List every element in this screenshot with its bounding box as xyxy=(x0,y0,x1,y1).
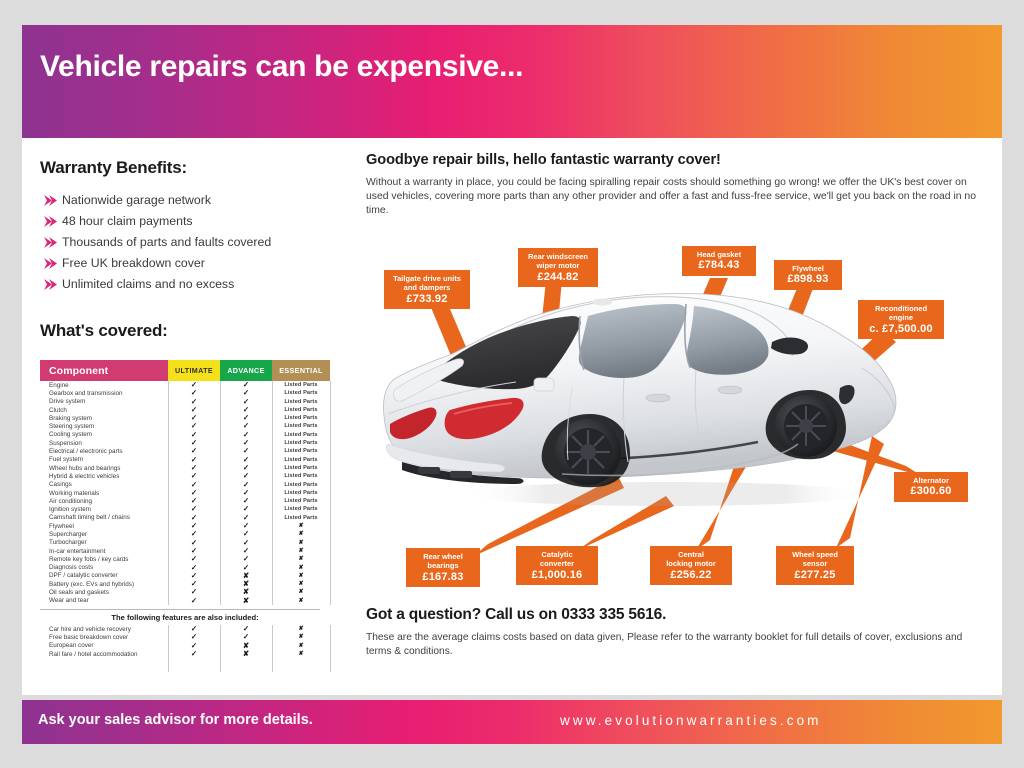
cell-text: Listed Parts xyxy=(272,514,330,522)
benefit-item: Thousands of parts and faults covered xyxy=(40,232,360,253)
cell-text: Listed Parts xyxy=(272,414,330,422)
chevron-right-icon xyxy=(40,237,62,248)
cell-text: Listed Parts xyxy=(272,489,330,497)
callout-label: Head gasket xyxy=(688,250,750,259)
table-row: Gearbox and transmission✓✓Listed Parts xyxy=(40,389,330,397)
cross-icon: ✘ xyxy=(272,633,330,641)
cross-icon: ✘ xyxy=(272,625,330,633)
chevron-right-icon xyxy=(40,195,62,206)
column-divider xyxy=(330,625,331,672)
callout-flywheel[interactable]: Flywheel£898.93 xyxy=(774,260,842,290)
component-name: In-car entertainment xyxy=(40,548,168,555)
question-disclaimer: These are the average claims costs based… xyxy=(366,631,986,659)
cross-icon: ✘ xyxy=(220,650,272,658)
table-row: Battery (exc. EVs and hybrids)✓✘✘ xyxy=(40,580,330,588)
content-panel: Warranty Benefits: Nationwide garage net… xyxy=(22,138,1002,695)
cell-text: Listed Parts xyxy=(272,439,330,447)
cross-icon: ✘ xyxy=(272,539,330,547)
component-name: Camshaft timing belt / chains xyxy=(40,514,168,521)
col-header-ultimate: ULTIMATE xyxy=(168,360,220,381)
callout-label: Rear windscreenwiper motor xyxy=(524,252,592,271)
intro-heading: Goodbye repair bills, hello fantastic wa… xyxy=(366,152,991,168)
benefit-item: Unlimited claims and no excess xyxy=(40,274,360,295)
table-row: Car hire and vehicle recovery✓✓✘ xyxy=(40,625,330,633)
cell-text: Listed Parts xyxy=(272,456,330,464)
table-row: Remote key fobs / key cards✓✓✘ xyxy=(40,555,330,563)
component-name: Oil seals and gaskets xyxy=(40,589,168,596)
component-name: Hybrid & electric vehicles xyxy=(40,473,168,480)
cell-text: Listed Parts xyxy=(272,406,330,414)
intro-paragraph: Without a warranty in place, you could b… xyxy=(366,176,991,219)
cross-icon: ✘ xyxy=(272,572,330,580)
component-name: Working materials xyxy=(40,490,168,497)
table-row: Suspension✓✓Listed Parts xyxy=(40,439,330,447)
table-row: Engine✓✓Listed Parts xyxy=(40,381,330,389)
cell-text: Listed Parts xyxy=(272,497,330,505)
benefit-item: 48 hour claim payments xyxy=(40,211,360,232)
table-row: Wheel hubs and bearings✓✓Listed Parts xyxy=(40,464,330,472)
column-divider xyxy=(330,381,331,605)
callout-label: Reconditionedengine xyxy=(864,304,938,323)
cross-icon: ✘ xyxy=(272,530,330,538)
component-name: Drive system xyxy=(40,398,168,405)
column-divider xyxy=(168,381,169,605)
check-icon: ✓ xyxy=(168,597,220,605)
callout-price: £300.60 xyxy=(900,487,962,496)
right-column: Goodbye repair bills, hello fantastic wa… xyxy=(366,152,991,219)
component-name: Steering system xyxy=(40,423,168,430)
poster-page: Vehicle repairs can be expensive... Warr… xyxy=(0,0,1024,768)
cross-icon: ✘ xyxy=(272,580,330,588)
cross-icon: ✘ xyxy=(272,588,330,596)
table-row: European cover✓✘✘ xyxy=(40,642,330,650)
table-row: Turbocharger✓✓✘ xyxy=(40,539,330,547)
table-row: Steering system✓✓Listed Parts xyxy=(40,422,330,430)
component-name: Supercharger xyxy=(40,531,168,538)
callout-label: Alternator xyxy=(900,476,962,485)
callout-wheel-speed-sensor[interactable]: Wheel speedsensor£277.25 xyxy=(776,546,854,585)
check-icon: ✓ xyxy=(168,650,220,658)
whats-covered-heading: What's covered: xyxy=(40,321,360,341)
table-row: Supercharger✓✓✘ xyxy=(40,530,330,538)
callout-label: Rear wheelbearings xyxy=(412,552,474,571)
component-name: Braking system xyxy=(40,415,168,422)
component-name: Free basic breakdown cover xyxy=(40,634,168,641)
column-divider xyxy=(220,625,221,672)
footer-cta: Ask your sales advisor for more details. xyxy=(38,712,313,728)
benefit-label: Unlimited claims and no excess xyxy=(62,274,234,295)
left-column: Warranty Benefits: Nationwide garage net… xyxy=(40,158,360,341)
question-heading: Got a question? Call us on 0333 335 5616… xyxy=(366,606,986,624)
callout-price: £733.92 xyxy=(390,295,464,304)
coverage-table-body: Engine✓✓Listed PartsGearbox and transmis… xyxy=(40,381,330,605)
table-row: Braking system✓✓Listed Parts xyxy=(40,414,330,422)
cell-text: Listed Parts xyxy=(272,505,330,513)
component-name: Ignition system xyxy=(40,506,168,513)
coverage-table: Component ULTIMATE ADVANCE ESSENTIAL Eng… xyxy=(40,360,330,672)
table-row: Oil seals and gaskets✓✘✘ xyxy=(40,588,330,596)
benefit-label: Thousands of parts and faults covered xyxy=(62,232,271,253)
callout-catalytic-converter[interactable]: Catalyticconverter£1,000.16 xyxy=(516,546,598,585)
callout-price: £784.43 xyxy=(688,261,750,270)
component-name: Remote key fobs / key cards xyxy=(40,556,168,563)
col-header-essential: ESSENTIAL xyxy=(272,360,330,381)
benefit-label: 48 hour claim payments xyxy=(62,211,193,232)
callout-price: £1,000.16 xyxy=(522,571,592,580)
table-row: Rail fare / hotel accommodation✓✘✘ xyxy=(40,650,330,658)
also-included-title: The following features are also included… xyxy=(40,613,330,622)
callout-rear-windscreen-wiper[interactable]: Rear windscreenwiper motor£244.82 xyxy=(518,248,598,287)
table-row: Casings✓✓Listed Parts xyxy=(40,481,330,489)
callout-price: £277.25 xyxy=(782,571,848,580)
table-row: DPF / catalytic converter✓✘✘ xyxy=(40,572,330,580)
page-title: Vehicle repairs can be expensive... xyxy=(40,50,523,84)
cell-text: Listed Parts xyxy=(272,447,330,455)
benefit-label: Free UK breakdown cover xyxy=(62,253,205,274)
section-divider xyxy=(40,609,320,610)
chevron-right-icon xyxy=(40,258,62,269)
callout-label: Flywheel xyxy=(780,264,836,273)
table-row: Camshaft timing belt / chains✓✓Listed Pa… xyxy=(40,514,330,522)
column-divider xyxy=(272,625,273,672)
table-row: Wear and tear✓✘✘ xyxy=(40,597,330,605)
component-name: Flywheel xyxy=(40,523,168,530)
table-row: Cooling system✓✓Listed Parts xyxy=(40,431,330,439)
callout-label: Tailgate drive unitsand dampers xyxy=(390,274,464,293)
column-divider xyxy=(272,381,273,605)
benefit-label: Nationwide garage network xyxy=(62,190,211,211)
cell-text: Listed Parts xyxy=(272,398,330,406)
callout-price: £167.83 xyxy=(412,573,474,582)
component-name: Diagnosis costs xyxy=(40,564,168,571)
table-row: Flywheel✓✓✘ xyxy=(40,522,330,530)
coverage-table-header: Component ULTIMATE ADVANCE ESSENTIAL xyxy=(40,360,330,381)
cross-icon: ✘ xyxy=(272,547,330,555)
cross-icon: ✘ xyxy=(272,555,330,563)
warranty-benefits-heading: Warranty Benefits: xyxy=(40,158,360,178)
component-name: Cooling system xyxy=(40,431,168,438)
callout-alternator[interactable]: Alternator£300.60 xyxy=(894,472,968,502)
cross-icon: ✘ xyxy=(272,564,330,572)
question-block: Got a question? Call us on 0333 335 5616… xyxy=(366,606,986,659)
cell-text: Listed Parts xyxy=(272,422,330,430)
col-header-advance: ADVANCE xyxy=(220,360,272,381)
component-name: Turbocharger xyxy=(40,539,168,546)
component-name: Gearbox and transmission xyxy=(40,390,168,397)
column-divider xyxy=(168,625,169,672)
table-row: Electrical / electronic parts✓✓Listed Pa… xyxy=(40,447,330,455)
benefit-item: Free UK breakdown cover xyxy=(40,253,360,274)
table-row: Clutch✓✓Listed Parts xyxy=(40,406,330,414)
component-name: Wear and tear xyxy=(40,597,168,604)
callout-central-locking-motor[interactable]: Centrallocking motor£256.22 xyxy=(650,546,732,585)
component-name: Electrical / electronic parts xyxy=(40,448,168,455)
callout-label: Catalyticconverter xyxy=(522,550,592,569)
cell-text: Listed Parts xyxy=(272,464,330,472)
cell-text: Listed Parts xyxy=(272,381,330,389)
cross-icon: ✘ xyxy=(220,597,272,605)
cell-text: Listed Parts xyxy=(272,389,330,397)
car-diagram: Tailgate drive unitsand dampers£733.92 R… xyxy=(366,238,996,598)
component-name: Air conditioning xyxy=(40,498,168,505)
callout-price: £244.82 xyxy=(524,273,592,282)
table-row: Diagnosis costs✓✓✘ xyxy=(40,564,330,572)
callout-head-gasket[interactable]: Head gasket£784.43 xyxy=(682,246,756,276)
callout-label: Wheel speedsensor xyxy=(782,550,848,569)
footer-website-url[interactable]: www.evolutionwarranties.com xyxy=(560,713,822,728)
callout-price: c. £7,500.00 xyxy=(864,325,938,334)
benefit-item: Nationwide garage network xyxy=(40,190,360,211)
cross-icon: ✘ xyxy=(272,522,330,530)
table-row: Ignition system✓✓Listed Parts xyxy=(40,505,330,513)
table-row: Free basic breakdown cover✓✓✘ xyxy=(40,633,330,641)
col-header-component: Component xyxy=(40,360,168,381)
component-name: Car hire and vehicle recovery xyxy=(40,626,168,633)
cell-text: Listed Parts xyxy=(272,472,330,480)
chevron-right-icon xyxy=(40,279,62,290)
table-row: Air conditioning✓✓Listed Parts xyxy=(40,497,330,505)
callout-tailgate-drive-units[interactable]: Tailgate drive unitsand dampers£733.92 xyxy=(384,270,470,309)
component-name: Rail fare / hotel accommodation xyxy=(40,651,168,658)
column-divider xyxy=(220,381,221,605)
cell-text: Listed Parts xyxy=(272,431,330,439)
callout-price: £898.93 xyxy=(780,275,836,284)
cross-icon: ✘ xyxy=(272,597,330,605)
component-name: DPF / catalytic converter xyxy=(40,572,168,579)
cross-icon: ✘ xyxy=(272,650,330,658)
chevron-right-icon xyxy=(40,216,62,227)
callout-reconditioned-engine[interactable]: Reconditionedenginec. £7,500.00 xyxy=(858,300,944,339)
component-name: Casings xyxy=(40,481,168,488)
component-name: Clutch xyxy=(40,407,168,414)
component-name: Wheel hubs and bearings xyxy=(40,465,168,472)
table-row: Hybrid & electric vehicles✓✓Listed Parts xyxy=(40,472,330,480)
callout-price: £256.22 xyxy=(656,571,726,580)
car-body xyxy=(384,294,897,488)
table-row: Drive system✓✓Listed Parts xyxy=(40,398,330,406)
component-name: Fuel system xyxy=(40,456,168,463)
component-name: Battery (exc. EVs and hybrids) xyxy=(40,581,168,588)
callout-label: Centrallocking motor xyxy=(656,550,726,569)
cross-icon: ✘ xyxy=(272,642,330,650)
warranty-benefits-list: Nationwide garage network48 hour claim p… xyxy=(40,190,360,295)
component-name: Engine xyxy=(40,382,168,389)
table-row: Working materials✓✓Listed Parts xyxy=(40,489,330,497)
cell-text: Listed Parts xyxy=(272,481,330,489)
component-name: European cover xyxy=(40,642,168,649)
table-row: Fuel system✓✓Listed Parts xyxy=(40,456,330,464)
callout-rear-wheel-bearings[interactable]: Rear wheelbearings£167.83 xyxy=(406,548,480,587)
table-row: In-car entertainment✓✓✘ xyxy=(40,547,330,555)
component-name: Suspension xyxy=(40,440,168,447)
also-included-table-body: Car hire and vehicle recovery✓✓✘Free bas… xyxy=(40,625,330,672)
